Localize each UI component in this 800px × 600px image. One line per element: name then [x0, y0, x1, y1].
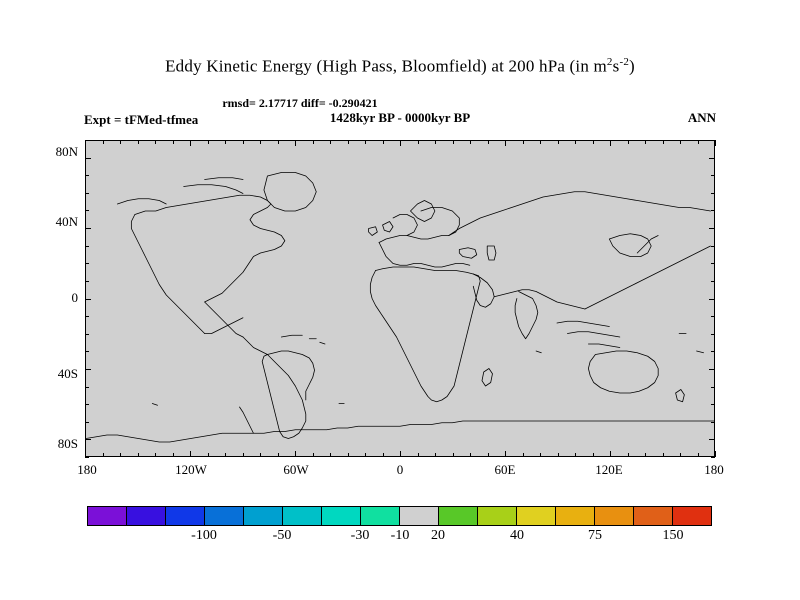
colorbar-cell-10	[478, 507, 517, 525]
axis-tick	[680, 140, 681, 144]
axis-tick	[711, 210, 715, 211]
axis-tick	[85, 228, 91, 229]
axis-tick	[698, 140, 699, 144]
axis-tick	[85, 334, 89, 335]
colorbar-cell-11	[517, 507, 556, 525]
axis-tick	[711, 404, 715, 405]
axis-tick	[120, 140, 121, 144]
chart-title: Eddy Kinetic Energy (High Pass, Bloomfie…	[0, 56, 800, 77]
axis-tick	[348, 453, 349, 457]
axis-tick	[85, 404, 89, 405]
axis-tick	[400, 451, 401, 457]
axis-tick	[330, 453, 331, 457]
axis-tick	[711, 316, 715, 317]
axis-tick	[453, 453, 454, 457]
colorbar-cell-12	[556, 507, 595, 525]
axis-tick	[383, 140, 384, 144]
axis-tick	[260, 453, 261, 457]
colorbar-cell-7	[361, 507, 400, 525]
axis-tick	[85, 351, 89, 352]
colorbar-cell-3	[205, 507, 244, 525]
axis-tick	[278, 140, 279, 144]
axis-tick	[470, 140, 471, 144]
axis-tick	[435, 453, 436, 457]
axis-tick	[418, 140, 419, 144]
xtick-label-180w: 180	[77, 462, 97, 478]
axis-tick	[85, 158, 91, 159]
axis-tick	[711, 263, 715, 264]
xtick-label-120e: 120E	[595, 462, 622, 478]
axis-tick	[85, 175, 89, 176]
period-label: 1428kyr BP - 0000kyr BP	[0, 110, 800, 126]
title-exponent-2: -2	[619, 56, 629, 68]
axis-tick	[313, 140, 314, 144]
axis-tick	[711, 246, 715, 247]
colorbar	[87, 506, 712, 526]
axis-tick	[225, 453, 226, 457]
colorbar-cell-0	[88, 507, 127, 525]
xtick-label-120w: 120W	[175, 462, 207, 478]
xtick-label-0: 0	[397, 462, 404, 478]
axis-tick	[709, 228, 715, 229]
xtick-label-60e: 60E	[495, 462, 516, 478]
axis-tick	[383, 453, 384, 457]
colorbar-cell-1	[127, 507, 166, 525]
axis-tick	[190, 140, 191, 146]
title-close-paren: )	[629, 57, 635, 76]
axis-tick	[85, 140, 89, 141]
axis-tick	[260, 140, 261, 144]
xtick-label-60w: 60W	[283, 462, 308, 478]
axis-tick	[711, 422, 715, 423]
axis-tick	[435, 140, 436, 144]
axis-tick	[85, 299, 91, 300]
ytick-label-80n: 80N	[56, 144, 78, 160]
axis-tick	[103, 140, 104, 144]
axis-tick	[711, 387, 715, 388]
axis-tick	[558, 453, 559, 457]
ytick-label-40s: 40S	[58, 366, 78, 382]
axis-tick	[85, 439, 91, 440]
axis-tick	[663, 453, 664, 457]
colorbar-cell-14	[634, 507, 673, 525]
axis-tick	[278, 453, 279, 457]
axis-tick	[711, 193, 715, 194]
axis-tick	[593, 140, 594, 144]
axis-tick	[698, 453, 699, 457]
axis-tick	[663, 140, 664, 144]
axis-tick	[540, 453, 541, 457]
axis-tick	[418, 453, 419, 457]
axis-tick	[575, 453, 576, 457]
axis-tick	[365, 140, 366, 144]
axis-tick	[711, 281, 715, 282]
axis-tick	[85, 457, 89, 458]
season-label: ANN	[688, 110, 716, 126]
axis-tick	[85, 193, 89, 194]
axis-tick	[120, 453, 121, 457]
axis-tick	[103, 453, 104, 457]
colorbar-cell-8	[400, 507, 439, 525]
axis-tick	[85, 316, 89, 317]
rmsd-stats-label: rmsd= 2.17717 diff= -0.290421	[0, 96, 600, 111]
axis-tick	[523, 453, 524, 457]
axis-tick	[715, 140, 716, 146]
axis-tick	[540, 140, 541, 144]
axis-tick	[330, 140, 331, 144]
map-plot-area	[85, 140, 715, 457]
axis-tick	[85, 369, 91, 370]
axis-tick	[453, 140, 454, 144]
axis-tick	[680, 453, 681, 457]
axis-tick	[313, 453, 314, 457]
colorbar-cell-9	[439, 507, 478, 525]
axis-tick	[715, 451, 716, 457]
axis-tick	[593, 453, 594, 457]
colorbar-label-5: 40	[510, 528, 524, 544]
axis-tick	[709, 158, 715, 159]
axis-tick	[85, 263, 89, 264]
axis-tick	[243, 453, 244, 457]
axis-tick	[610, 451, 611, 457]
colorbar-label-6: 75	[588, 528, 602, 544]
axis-tick	[709, 299, 715, 300]
axis-tick	[575, 140, 576, 144]
colorbar-label-1: -50	[273, 528, 292, 544]
axis-tick	[470, 453, 471, 457]
axis-tick	[138, 140, 139, 144]
ytick-label-0: 0	[72, 290, 79, 306]
colorbar-label-0: -100	[191, 528, 217, 544]
axis-tick	[85, 387, 89, 388]
axis-tick	[155, 140, 156, 144]
axis-tick	[208, 453, 209, 457]
colorbar-cell-13	[595, 507, 634, 525]
colorbar-label-4: 20	[431, 528, 445, 544]
axis-tick	[173, 140, 174, 144]
colorbar-cell-6	[322, 507, 361, 525]
axis-tick	[138, 453, 139, 457]
axis-tick	[488, 140, 489, 144]
axis-tick	[711, 175, 715, 176]
axis-tick	[711, 351, 715, 352]
axis-tick	[85, 422, 89, 423]
axis-tick	[628, 453, 629, 457]
axis-tick	[523, 140, 524, 144]
axis-tick	[709, 369, 715, 370]
axis-tick	[558, 140, 559, 144]
axis-tick	[709, 439, 715, 440]
axis-tick	[505, 451, 506, 457]
axis-tick	[85, 281, 89, 282]
axis-tick	[85, 246, 89, 247]
chart-title-text: Eddy Kinetic Energy (High Pass, Bloomfie…	[165, 57, 607, 76]
axis-tick	[610, 140, 611, 146]
colorbar-cell-2	[166, 507, 205, 525]
coastline-overlay	[86, 141, 714, 456]
ytick-label-80s: 80S	[58, 436, 78, 452]
axis-tick	[225, 140, 226, 144]
colorbar-label-7: 150	[663, 528, 684, 544]
axis-tick	[155, 453, 156, 457]
colorbar-label-2: -30	[351, 528, 370, 544]
axis-tick	[645, 453, 646, 457]
axis-tick	[711, 140, 715, 141]
axis-tick	[190, 451, 191, 457]
xtick-label-180e: 180	[704, 462, 724, 478]
axis-tick	[348, 140, 349, 144]
axis-tick	[365, 453, 366, 457]
axis-tick	[295, 451, 296, 457]
axis-tick	[400, 140, 401, 146]
axis-tick	[295, 140, 296, 146]
axis-tick	[173, 453, 174, 457]
axis-tick	[711, 334, 715, 335]
colorbar-cell-15	[673, 507, 711, 525]
axis-tick	[628, 140, 629, 144]
colorbar-cell-4	[244, 507, 283, 525]
axis-tick	[208, 140, 209, 144]
colorbar-label-3: -10	[391, 528, 410, 544]
axis-tick	[711, 457, 715, 458]
axis-tick	[243, 140, 244, 144]
axis-tick	[85, 210, 89, 211]
axis-tick	[645, 140, 646, 144]
colorbar-cell-5	[283, 507, 322, 525]
axis-tick	[505, 140, 506, 146]
axis-tick	[488, 453, 489, 457]
ytick-label-40n: 40N	[56, 214, 78, 230]
